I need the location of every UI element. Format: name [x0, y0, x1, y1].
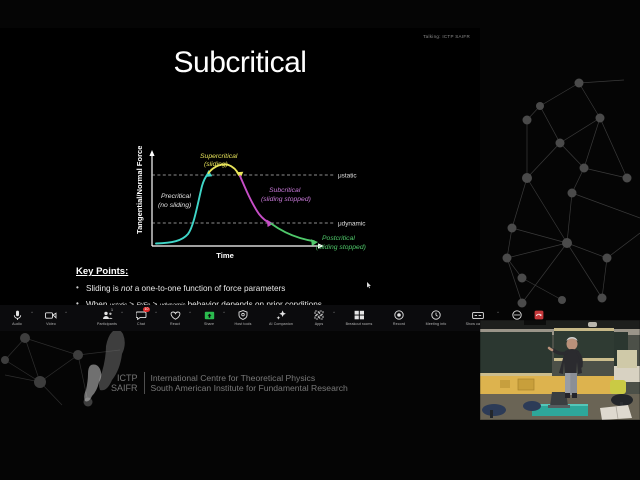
friction-chart: μstatic μdynamic	[130, 146, 420, 266]
toolbar-label: Breakout rooms	[346, 322, 373, 326]
toolbar-label: Audio	[12, 322, 22, 326]
toolbar-center-group: 1 Participants ^ 10 Chat ^ React ^	[90, 305, 534, 331]
ictp-saifr-logo: ICTP SAIFR International Centre for Theo…	[78, 364, 348, 402]
south-america-map-icon	[78, 364, 106, 402]
toolbar-button-video[interactable]: Video ^	[34, 305, 68, 331]
shield-icon	[238, 310, 248, 321]
participants-count: 1	[111, 308, 113, 312]
chevron-up-icon[interactable]: ^	[31, 310, 33, 315]
key-point-text-1: Sliding is not a one-to-one function of …	[86, 284, 285, 293]
series-postcritical	[271, 224, 318, 247]
record-icon	[394, 310, 404, 321]
apps-icon	[314, 310, 324, 321]
toolbar-label: Host tools	[235, 322, 252, 326]
slide-title: Subcritical	[0, 46, 480, 80]
chart-ylabel: Tangential/Normal Force	[135, 146, 144, 234]
logo-abbreviation: ICTP SAIFR	[111, 373, 138, 394]
bullet-icon: •	[76, 284, 86, 293]
logo-divider	[144, 372, 145, 394]
info-icon	[431, 310, 441, 321]
logo-full-line2: South American Institute for Fundamental…	[151, 383, 348, 394]
toolbar-button-meeting-info[interactable]: Meeting info	[416, 305, 456, 331]
lecture-room-video	[480, 320, 640, 420]
network-decoration-right	[472, 28, 640, 320]
annotation-subcritical-line1: Subcritical	[269, 187, 301, 194]
speaker-video-tile[interactable]	[480, 320, 640, 420]
sparkle-icon	[276, 310, 287, 321]
toolbar-label: AI Companion	[269, 322, 293, 326]
reaction-icon	[170, 310, 181, 321]
mu-dynamic-label: μdynamic	[338, 221, 366, 228]
toolbar-label: Record	[393, 322, 405, 326]
toolbar-label: Video	[46, 322, 56, 326]
key-point-row: • Sliding is not a one-to-one function o…	[76, 284, 466, 293]
toolbar-label: Apps	[315, 322, 324, 326]
annotation-supercritical-line1: Supercritical	[200, 153, 238, 160]
logo-full-line1: International Centre for Theoretical Phy…	[151, 373, 348, 384]
toolbar-left-group: Audio ^ Video ^	[0, 305, 68, 331]
annotation-precritical-line2: (no sliding)	[158, 202, 191, 209]
annotation-supercritical-line2: (sliding)	[204, 161, 228, 168]
toolbar-button-apps[interactable]: Apps ^	[302, 305, 336, 331]
chevron-up-icon[interactable]: ^	[189, 310, 191, 315]
toolbar-button-host-tools[interactable]: Host tools	[226, 305, 260, 331]
toolbar-label: Meeting info	[426, 322, 447, 326]
share-screen-icon	[204, 310, 215, 321]
microphone-icon	[13, 310, 22, 321]
talking-indicator: Talking: ICTP SAIFR	[423, 34, 470, 39]
key-points-heading: Key Points:	[76, 266, 466, 277]
chevron-up-icon[interactable]: ^	[155, 310, 157, 315]
shared-screen-slide: Talking: ICTP SAIFR Subcritical μstatic	[0, 28, 480, 305]
breakout-rooms-icon	[354, 310, 365, 321]
annotation-subcritical-line2: (sliding stopped)	[261, 196, 311, 203]
chart-svg: μstatic μdynamic	[130, 146, 420, 266]
meeting-toolbar[interactable]: Audio ^ Video ^ 1 Participants ^	[0, 305, 480, 331]
toolbar-button-chat[interactable]: 10 Chat ^	[124, 305, 158, 331]
chevron-up-icon[interactable]: ^	[65, 310, 67, 315]
mouse-cursor-icon	[367, 282, 372, 289]
logo-fullname: International Centre for Theoretical Phy…	[151, 373, 348, 394]
mu-static-label: μstatic	[338, 173, 357, 180]
annotation-postcritical-line1: Postcritical	[322, 235, 355, 242]
reference-line-mu-dynamic: μdynamic	[152, 221, 366, 228]
toolbar-label: Chat	[137, 322, 145, 326]
annotation-precritical-line1: Precritical	[161, 193, 191, 200]
toolbar-button-ai-companion[interactable]: AI Companion	[260, 305, 302, 331]
chevron-up-icon[interactable]: ^	[497, 310, 499, 315]
chat-unread-badge: 10	[143, 307, 150, 312]
toolbar-label: Participants	[97, 322, 117, 326]
logo-abbr-line2: SAIFR	[111, 383, 138, 394]
chevron-up-icon[interactable]: ^	[223, 310, 225, 315]
zoom-meeting-window: Talking: ICTP SAIFR Subcritical μstatic	[0, 0, 640, 480]
camera-icon	[45, 310, 57, 321]
reference-line-mu-static: μstatic	[152, 173, 357, 180]
toolbar-button-breakout-rooms[interactable]: Breakout rooms	[336, 305, 382, 331]
toolbar-button-record[interactable]: Record	[382, 305, 416, 331]
toolbar-label: React	[170, 322, 180, 326]
annotation-postcritical-line2: (sliding stopped)	[316, 244, 366, 251]
toolbar-button-share[interactable]: Share ^	[192, 305, 226, 331]
toolbar-button-audio[interactable]: Audio ^	[0, 305, 34, 331]
chevron-up-icon[interactable]: ^	[121, 310, 123, 315]
toolbar-button-react[interactable]: React ^	[158, 305, 192, 331]
chevron-up-icon[interactable]: ^	[333, 310, 335, 315]
logo-abbr-line1: ICTP	[111, 373, 138, 384]
chart-xlabel: Time	[216, 251, 234, 260]
toolbar-label: Share	[204, 322, 214, 326]
toolbar-button-participants[interactable]: 1 Participants ^	[90, 305, 124, 331]
